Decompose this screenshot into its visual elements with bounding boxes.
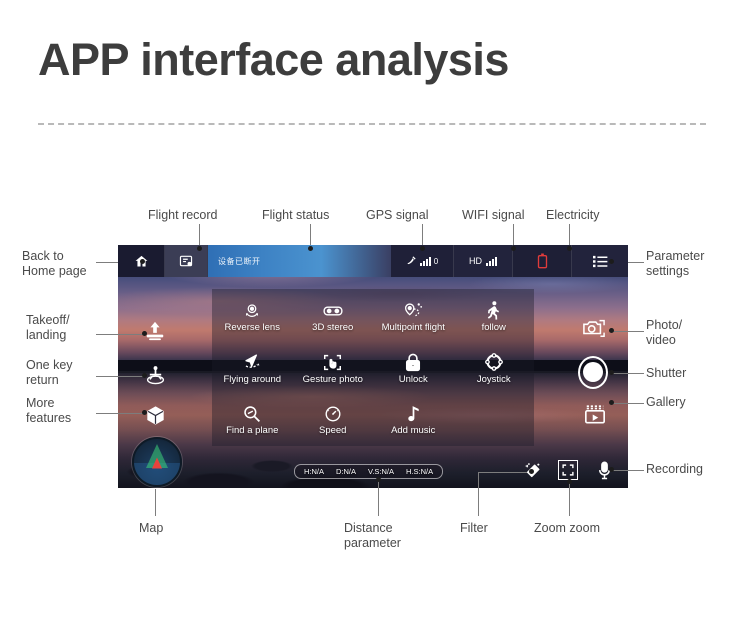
leader-one-key-return [96,376,146,377]
feature-label: Speed [319,426,346,436]
annotation-photo-video: Photo/ video [646,318,682,348]
dot-shutter [609,370,614,375]
dot-photo-video [609,328,614,333]
dot-back-to-home [140,259,145,264]
joystick-icon [485,353,503,372]
annotation-gps-signal: GPS signal [366,208,429,223]
speed-icon [324,404,342,423]
telemetry-distance: D:N/A [336,467,356,476]
music-note-icon [406,404,421,423]
feature-label: Unlock [399,375,428,385]
annotation-takeoff: Takeoff/ landing [26,313,70,343]
annotation-recording: Recording [646,462,703,477]
leader-photo-video [612,331,644,332]
feature-menu-panel: Reverse lens 3D stereo Mu [212,289,534,446]
telemetry-height: H:N/A [304,467,324,476]
wifi-bars-icon [486,257,497,266]
dot-takeoff [142,331,147,336]
feature-follow[interactable]: follow [454,291,535,343]
title-divider [38,123,706,125]
3d-stereo-icon [323,301,343,320]
page-title: APP interface analysis [38,36,509,83]
leader-distance-parameter [378,480,379,516]
reverse-lens-icon [243,301,261,320]
app-screenshot: 设备已断开 0 HD [118,245,628,488]
gesture-photo-icon [323,353,342,372]
feature-unlock[interactable]: Unlock [373,343,454,395]
feature-label: Flying around [223,375,281,385]
annotation-shutter: Shutter [646,366,686,381]
annotation-distance-parameter: Distance parameter [344,521,401,551]
leader-takeoff [96,334,146,335]
gps-count: 0 [434,257,438,266]
dot-parameter-settings [609,259,614,264]
dot-more-features [142,410,147,415]
feature-speed[interactable]: Speed [293,394,374,446]
annotation-filter: Filter [460,521,488,536]
telemetry-vspeed: V.S:N/A [368,467,394,476]
app-top-bar: 设备已断开 0 HD [118,245,628,277]
feature-multipoint-flight[interactable]: Multipoint flight [373,291,454,343]
dot-electricity [567,246,572,251]
annotation-more-features: More features [26,396,71,426]
dot-wifi-signal [511,246,516,251]
feature-label: 3D stereo [312,323,353,333]
feature-label: Joystick [477,375,511,385]
annotation-wifi-signal: WIFI signal [462,208,525,223]
parameter-settings-icon[interactable] [572,245,628,277]
annotation-flight-record: Flight record [148,208,217,223]
leader-zoom-zoom [569,482,570,516]
feature-gesture-photo[interactable]: Gesture photo [293,343,374,395]
feature-label: Add music [391,426,435,436]
dot-flight-status [308,246,313,251]
battery-empty-icon[interactable] [513,245,571,277]
feature-label: Find a plane [226,426,278,436]
annotation-flight-status: Flight status [262,208,329,223]
shutter-ring [578,356,608,389]
map-compass-widget[interactable] [132,437,182,487]
gps-bars-icon [420,257,431,266]
shutter-icon[interactable] [578,357,608,387]
annotation-one-key-return: One key return [26,358,73,388]
wifi-quality-label: HD [469,256,482,266]
leader-gallery [612,403,644,404]
gallery-icon[interactable] [582,402,608,426]
leader-filter [478,472,479,516]
find-a-plane-icon [243,404,261,423]
multipoint-flight-icon [403,301,423,320]
dot-distance-parameter [376,477,381,482]
lock-icon [405,353,421,372]
leader-recording [612,470,644,471]
feature-add-music[interactable]: Add music [373,394,454,446]
dot-gps-signal [420,246,425,251]
dot-filter [529,469,534,474]
photo-video-toggle-icon[interactable] [580,315,608,341]
annotation-gallery: Gallery [646,395,686,410]
feature-3d-stereo[interactable]: 3D stereo [293,291,374,343]
dot-recording [609,467,614,472]
annotation-back-to-home: Back to Home page [22,249,87,279]
satellite-icon [406,255,417,268]
feature-label: Gesture photo [303,375,363,385]
zoom-frame-icon[interactable] [558,460,578,480]
annotation-zoom-zoom: Zoom zoom [534,521,600,536]
feature-joystick[interactable]: Joystick [454,343,535,395]
annotation-map: Map [139,521,163,536]
feature-label: follow [482,323,506,333]
leader-shutter [612,373,644,374]
telemetry-hspeed: H.S:N/A [406,467,433,476]
cube-icon[interactable] [142,402,168,428]
leader-more-features [96,413,146,414]
flight-status-text: 设备已断开 [208,245,391,277]
compass-drone-marker [152,457,162,468]
wifi-signal-indicator[interactable]: HD [454,245,512,277]
annotation-parameter-settings: Parameter settings [646,249,704,279]
dot-flight-record [197,246,202,251]
shutter-inner [583,362,603,382]
flying-around-icon [243,353,262,372]
feature-reverse-lens[interactable]: Reverse lens [212,291,293,343]
annotation-electricity: Electricity [546,208,599,223]
feature-find-a-plane[interactable]: Find a plane [212,394,293,446]
feature-label: Multipoint flight [382,323,445,333]
dot-zoom-zoom [567,479,572,484]
feature-label: Reverse lens [225,323,280,333]
leader-map [155,489,156,516]
feature-flying-around[interactable]: Flying around [212,343,293,395]
dot-one-key-return [142,373,147,378]
distance-parameter-bar: H:N/A D:N/A V.S:N/A H.S:N/A [294,464,443,479]
follow-icon [486,301,501,320]
dot-gallery [609,400,614,405]
